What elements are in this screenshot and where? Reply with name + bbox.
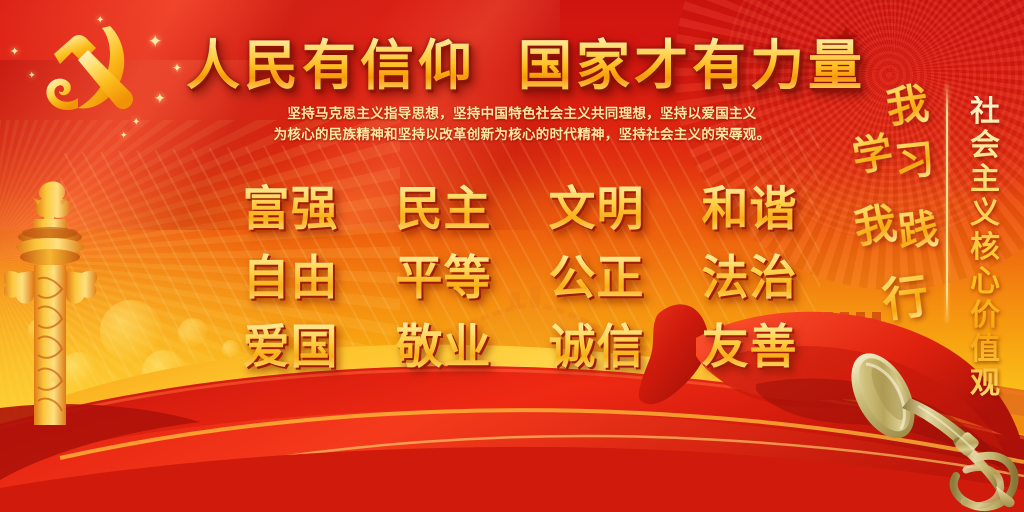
core-value-item: 富强 [243, 170, 339, 239]
core-value-item: 文明 [549, 170, 645, 239]
calligraphy-char: 践 [895, 196, 941, 258]
core-value-item: 友善 [702, 308, 798, 377]
core-value-item: 和谐 [702, 170, 798, 239]
calligraphy-char: 我 [849, 189, 900, 256]
calligraphy-slogan: 我 学 习 我 践 行 [852, 72, 948, 332]
calligraphy-char: 行 [878, 259, 932, 330]
core-value-item: 爱国 [243, 308, 339, 377]
core-value-item: 民主 [396, 170, 492, 239]
poster-canvas: ✦ ✦ ✦ ✦ ✦ ✦ ✦ ✦ [0, 0, 1024, 512]
vertical-divider [946, 84, 948, 322]
core-value-item: 诚信 [549, 308, 645, 377]
vertical-heading-char: 价 [970, 300, 1000, 332]
huabiao-pillar-icon [4, 175, 104, 425]
vertical-heading-char: 会 [970, 130, 1000, 162]
core-value-item: 敬业 [396, 308, 492, 377]
core-value-item: 法治 [702, 239, 798, 308]
core-values-grid: 富强 民主 文明 和谐 自由 平等 公正 法治 爱国 敬业 诚信 友善 [214, 170, 826, 370]
vertical-heading-char: 义 [970, 198, 1000, 230]
calligraphy-char: 习 [891, 126, 937, 188]
core-value-item: 公正 [549, 239, 645, 308]
core-value-item: 平等 [396, 239, 492, 308]
subtitle-line-2: 为核心的民族精神和坚持以改革创新为核心的时代精神，坚持社会主义的荣辱观。 [232, 125, 812, 146]
headline-part-1: 人民有信仰 [186, 21, 476, 100]
core-value-item: 自由 [243, 239, 339, 308]
vertical-heading: 社 会 主 义 核 心 价 值 观 [962, 96, 1008, 396]
vertical-heading-char: 心 [970, 266, 1000, 298]
hammer-and-sickle-icon [26, 10, 146, 130]
vertical-heading-char: 主 [970, 164, 1000, 196]
subtitle-paragraph: 坚持马克思主义指导思想，坚持中国特色社会主义共同理想，坚持以爱国主义 为核心的民… [232, 104, 812, 146]
headline-part-2: 国家才有力量 [518, 21, 866, 100]
vertical-heading-char: 值 [970, 334, 1000, 366]
subtitle-line-1: 坚持马克思主义指导思想，坚持中国特色社会主义共同理想，坚持以爱国主义 [232, 104, 812, 125]
page-title: 人民有信仰 国家才有力量 [186, 28, 866, 92]
vertical-heading-char: 社 [970, 96, 1000, 128]
vertical-heading-char: 核 [970, 232, 1000, 264]
vertical-heading-char: 观 [970, 368, 1000, 400]
